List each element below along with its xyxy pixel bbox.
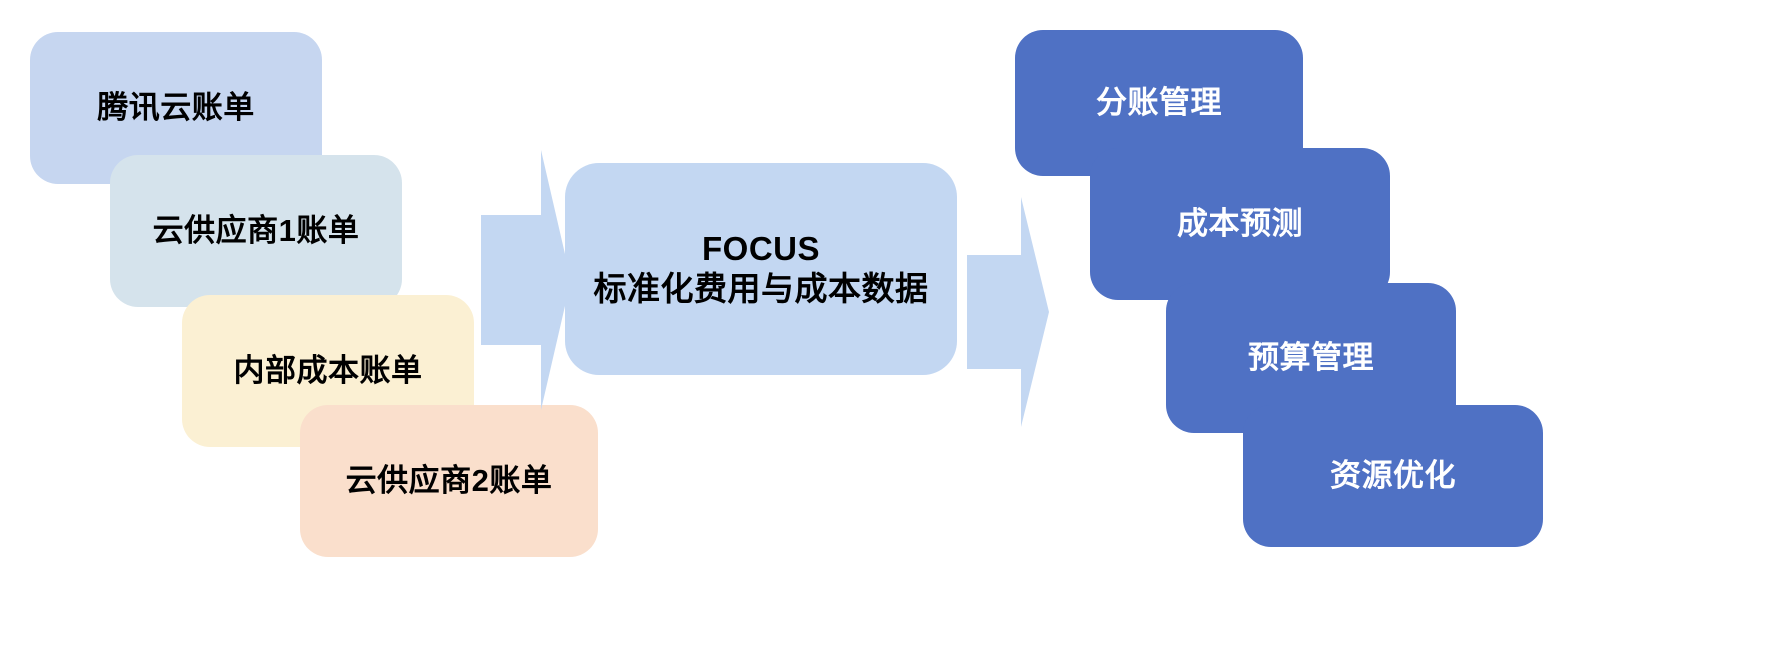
output-node-label: 分账管理 (1082, 84, 1236, 122)
output-node-cost-forecasting[interactable]: 成本预测 (1090, 148, 1390, 300)
hub-node-focus-standard-data[interactable]: FOCUS 标准化费用与成本数据 (565, 163, 957, 375)
input-node-label: 云供应商1账单 (139, 212, 374, 250)
output-node-label: 成本预测 (1163, 205, 1317, 243)
right-arrow-icon-hub-to-outputs (967, 197, 1049, 427)
input-node-label: 腾讯云账单 (83, 89, 269, 127)
output-node-resource-optimization[interactable]: 资源优化 (1243, 405, 1543, 547)
output-node-label: 预算管理 (1234, 339, 1388, 377)
right-arrow-shape (481, 150, 571, 410)
diagram-canvas: 腾讯云账单 云供应商1账单 内部成本账单 云供应商2账单 FOCUS 标准化费用… (0, 0, 1786, 660)
input-node-cloud-vendor-2-bill[interactable]: 云供应商2账单 (300, 405, 598, 557)
input-node-cloud-vendor-1-bill[interactable]: 云供应商1账单 (110, 155, 402, 307)
input-node-label: 内部成本账单 (220, 352, 437, 390)
output-node-label: 资源优化 (1316, 457, 1470, 495)
right-arrow-polygon (967, 197, 1049, 427)
right-arrow-polygon (481, 150, 571, 410)
hub-node-label: FOCUS 标准化费用与成本数据 (580, 229, 943, 310)
right-arrow-shape (967, 197, 1049, 427)
input-node-label: 云供应商2账单 (332, 462, 567, 500)
right-arrow-icon-inputs-to-hub (481, 150, 571, 410)
